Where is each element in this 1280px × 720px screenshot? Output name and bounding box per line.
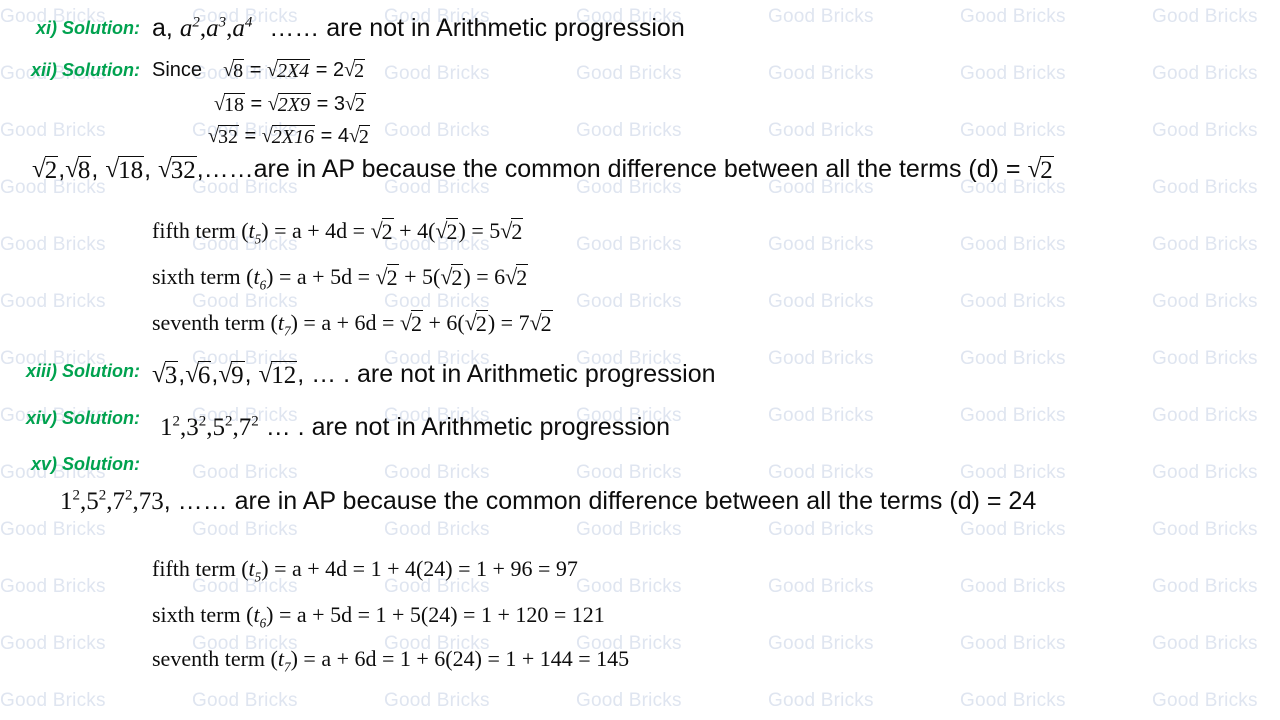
radical-xiii-2: √6 (185, 360, 211, 389)
t6a-symbol: (t6) (246, 264, 273, 289)
radical-d-t5a: √2 (435, 217, 458, 244)
t5b-symbol: (t5) (241, 556, 268, 581)
t7a-paren-open: ( (457, 310, 464, 335)
t7b-expr: = a + 6d = 1 + 6(24) = 1 + 144 = 145 (303, 646, 629, 671)
t7a-res-coef: 7 (519, 310, 530, 335)
t7b-name: seventh term (152, 646, 265, 671)
ap-sep-3: , (144, 155, 151, 183)
radical-result-t7a: √2 (530, 309, 553, 336)
t6a-paren-open: ( (433, 264, 440, 289)
xv-term-4: 73 (139, 488, 164, 515)
t6a-plus: + (404, 264, 416, 289)
xi-lead: a, (152, 14, 173, 42)
xii-eq3-coef: 4 (338, 125, 349, 147)
xii-eq1-sign2: = (316, 59, 328, 81)
ap-sep-1: , (58, 155, 65, 183)
radical-result-t6a: √2 (505, 263, 528, 290)
ap-text: are in AP because the common difference … (254, 155, 1021, 183)
t6a-coef: 5 (422, 264, 433, 289)
radical-2-c: √2 (349, 124, 370, 148)
solution-line-xiv: 12,32,52,72 … . are not in Arithmetic pr… (160, 413, 670, 442)
xi-tail: are not in Arithmetic progression (326, 14, 685, 42)
radical-d-value: √2 (1027, 155, 1053, 184)
solution-label-xi: xi) Solution: (0, 18, 140, 39)
t7a-plus: + (428, 310, 440, 335)
xi-term-2: a2 (180, 15, 200, 42)
radical-a-t5a: √2 (371, 217, 394, 244)
radical-18: √18 (214, 92, 245, 116)
t6b-expr: = a + 5d = 1 + 5(24) = 1 + 120 = 121 (279, 602, 605, 627)
radical-2x4: √2X4 (267, 58, 310, 82)
radical-seq-3: √18 (105, 155, 144, 184)
t5b-name: fifth term (152, 556, 236, 581)
solution-line-xv: 12,52,72,73, …… are in AP because the co… (60, 487, 1036, 516)
solution-label-xii: xii) Solution: (0, 60, 140, 81)
t5a-eq: = (471, 218, 483, 243)
t5a-formula: = a + 4d = (274, 218, 365, 243)
xiv-tail: are not in Arithmetic progression (312, 413, 671, 441)
ap-sequence-line-sqrt: √2,√8, √18, √32,……are in AP because the … (32, 155, 1054, 184)
xi-ellipsis: …… (269, 14, 319, 42)
t6a-eq: = (476, 264, 488, 289)
term-line-sixth-numeric: sixth term (t6) = a + 5d = 1 + 5(24) = 1… (152, 602, 605, 628)
t7a-coef: 6 (446, 310, 457, 335)
solution-line-xii-eq3: √32 = √2X16 = 4√2 (208, 124, 370, 148)
radical-2x9: √2X9 (268, 92, 311, 116)
term-line-sixth-sqrt: sixth term (t6) = a + 5d = √2 + 5(√2) = … (152, 263, 528, 290)
xiv-term-2: 32 (186, 414, 206, 441)
radical-d-t7a: √2 (465, 309, 488, 336)
t6a-name: sixth term (152, 264, 241, 289)
radical-2x16: √2X16 (262, 124, 315, 148)
radical-d-t6a: √2 (440, 263, 463, 290)
radical-xiii-1: √3 (152, 360, 178, 389)
solution-label-xiv: xiv) Solution: (0, 408, 140, 429)
ap-sep-2: , (91, 155, 98, 183)
xv-term-2: 52 (86, 488, 106, 515)
term-line-seventh-numeric: seventh term (t7) = a + 6d = 1 + 6(24) =… (152, 646, 629, 672)
t5b-expr: = a + 4d = 1 + 4(24) = 1 + 96 = 97 (274, 556, 578, 581)
radical-seq-4: √32 (158, 155, 197, 184)
xii-eq2-coef: 3 (334, 93, 345, 115)
radical-result-t5a: √2 (500, 217, 523, 244)
xi-term-3: a3 (206, 15, 226, 42)
term-line-seventh-sqrt: seventh term (t7) = a + 6d = √2 + 6(√2) … (152, 309, 553, 336)
xii-eq2-sign2: = (317, 93, 329, 115)
term-line-fifth-sqrt: fifth term (t5) = a + 4d = √2 + 4(√2) = … (152, 217, 523, 244)
radical-a-t7a: √2 (400, 309, 423, 336)
xii-eq1-sign1: = (250, 59, 262, 81)
t7a-name: seventh term (152, 310, 265, 335)
ap-ellipsis: ,…… (197, 155, 254, 183)
t5a-paren-open: ( (428, 218, 435, 243)
radical-32: √32 (208, 124, 239, 148)
slide-canvas: Good BricksGood BricksGood BricksGood Br… (0, 0, 1280, 720)
xii-eq3-sign1: = (245, 125, 257, 147)
xii-since: Since (152, 59, 202, 81)
t5a-res-coef: 5 (489, 218, 500, 243)
xii-eq2-sign1: = (251, 93, 263, 115)
radical-8: √8 (223, 58, 244, 82)
t6b-symbol: (t6) (246, 602, 273, 627)
t7b-symbol: (t7) (271, 646, 298, 671)
solution-label-xv: xv) Solution: (0, 454, 140, 475)
xv-ellipsis: , …… (164, 487, 228, 515)
t5a-coef: 4 (417, 218, 428, 243)
t6b-name: sixth term (152, 602, 241, 627)
xi-term-4: a4 (232, 15, 252, 42)
radical-2-a: √2 (344, 58, 365, 82)
solution-line-xi: a, a2,a3,a4 …… are not in Arithmetic pro… (152, 14, 685, 43)
radical-xiii-4: √12 (259, 360, 298, 389)
radical-2-b: √2 (345, 92, 366, 116)
solution-line-xii-eq1: Since √8 = √2X4 = 2√2 (152, 58, 365, 82)
content-layer: xi) Solution: a, a2,a3,a4 …… are not in … (0, 0, 1280, 720)
t7a-formula: = a + 6d = (303, 310, 394, 335)
t7a-symbol: (t7) (271, 310, 298, 335)
radical-a-t6a: √2 (375, 263, 398, 290)
t5a-name: fifth term (152, 218, 236, 243)
t5a-plus: + (399, 218, 411, 243)
radical-seq-1: √2 (32, 155, 58, 184)
radical-xiii-3: √9 (218, 360, 244, 389)
xii-eq3-sign2: = (321, 125, 333, 147)
xv-term-1: 12 (60, 488, 80, 515)
t6a-res-coef: 6 (494, 264, 505, 289)
xiii-ellipsis: , … . (297, 360, 350, 388)
radical-seq-2: √8 (65, 155, 91, 184)
xiv-ellipsis: … . (266, 413, 305, 441)
xiv-term-1: 12 (160, 414, 180, 441)
xiv-term-3: 52 (213, 414, 233, 441)
solution-label-xiii: xiii) Solution: (0, 361, 140, 382)
t6a-formula: = a + 5d = (279, 264, 370, 289)
solution-line-xii-eq2: √18 = √2X9 = 3√2 (214, 92, 366, 116)
xiii-tail: are not in Arithmetic progression (357, 360, 716, 388)
xiv-term-4: 72 (239, 414, 259, 441)
t5a-paren-close: ) (458, 218, 465, 243)
t7a-paren-close: ) (488, 310, 495, 335)
xii-eq1-coef: 2 (333, 59, 344, 81)
t7a-eq: = (501, 310, 513, 335)
term-line-fifth-numeric: fifth term (t5) = a + 4d = 1 + 4(24) = 1… (152, 556, 578, 582)
solution-line-xiii: √3,√6,√9, √12, … . are not in Arithmetic… (152, 360, 716, 389)
xv-text: are in AP because the common difference … (235, 487, 1037, 515)
t6a-paren-close: ) (463, 264, 470, 289)
xv-term-3: 72 (113, 488, 133, 515)
t5a-symbol: (t5) (241, 218, 268, 243)
